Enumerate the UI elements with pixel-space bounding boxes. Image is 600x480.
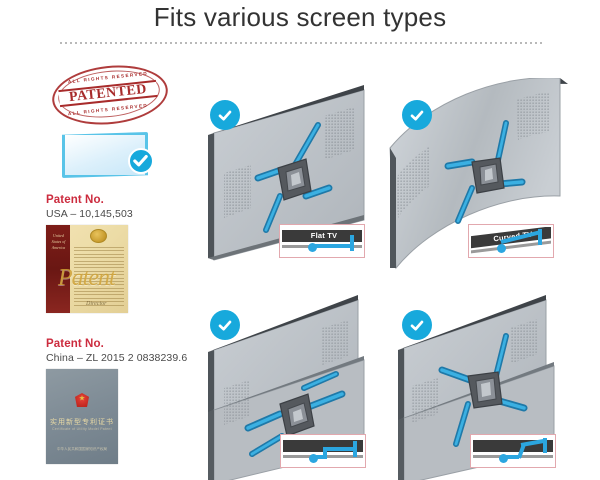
certificate-china-subtitle: Certificate of Utility Model Patent (46, 427, 118, 431)
callout-arm-vertical (350, 235, 354, 251)
patent-heading-usa: Patent No. (46, 194, 192, 206)
national-emblem-icon (73, 391, 91, 409)
callout-flat-tv-ledge-left (280, 434, 366, 468)
callout-arm-horizontal (312, 244, 352, 248)
callout-pivot-knob (497, 244, 506, 253)
poster-canvas: Fits various screen types ALL RIGHTS RES… (0, 0, 600, 480)
patent-heading-china: Patent No. (46, 338, 192, 350)
page-title: Fits various screen types (0, 2, 600, 33)
patent-sidebar: ALL RIGHTS RESERVED PATENTED ALL RIGHTS … (44, 66, 194, 474)
callout-arm-vertical (538, 229, 542, 245)
callout-flat-tv: Flat TV (279, 224, 365, 258)
callout-arm-vertical (543, 438, 547, 453)
check-badge (210, 310, 240, 340)
callout-flat-tv-ledge-right (470, 434, 556, 468)
callout-curved-tv: Curved TV (468, 224, 554, 258)
patent-block-usa: Patent No. USA – 10,145,503 United State… (46, 194, 192, 313)
check-mark-icon (128, 148, 154, 174)
certificate-china-footer: 中华人民共和国国家知识产权局 (46, 447, 118, 452)
certificate-image-china: 实用新型专利证书 Certificate of Utility Model Pa… (46, 369, 118, 464)
certificate-usa-signature: Director (86, 301, 106, 307)
certificate-image-usa: United States of America Patent Director (46, 225, 128, 313)
check-badge (402, 100, 432, 130)
check-badge (210, 100, 240, 130)
dotted-divider (60, 42, 542, 44)
patent-block-china: Patent No. China – ZL 2015 2 0838239.6 实… (46, 338, 192, 464)
curved-screen-approved-icon (62, 130, 154, 182)
check-badge (402, 310, 432, 340)
certificate-usa-band-text: United States of America (49, 233, 68, 251)
certificate-usa-seal (90, 229, 107, 243)
patent-number-china: China – ZL 2015 2 0838239.6 (46, 352, 192, 364)
certificate-china-title: 实用新型专利证书 (46, 417, 118, 427)
certificate-usa-script-text: Patent (58, 265, 115, 292)
patented-stamp: ALL RIGHTS RESERVED PATENTED ALL RIGHTS … (52, 66, 168, 124)
patent-number-usa: USA – 10,145,503 (46, 208, 192, 220)
callout-arm-vertical (353, 441, 357, 457)
